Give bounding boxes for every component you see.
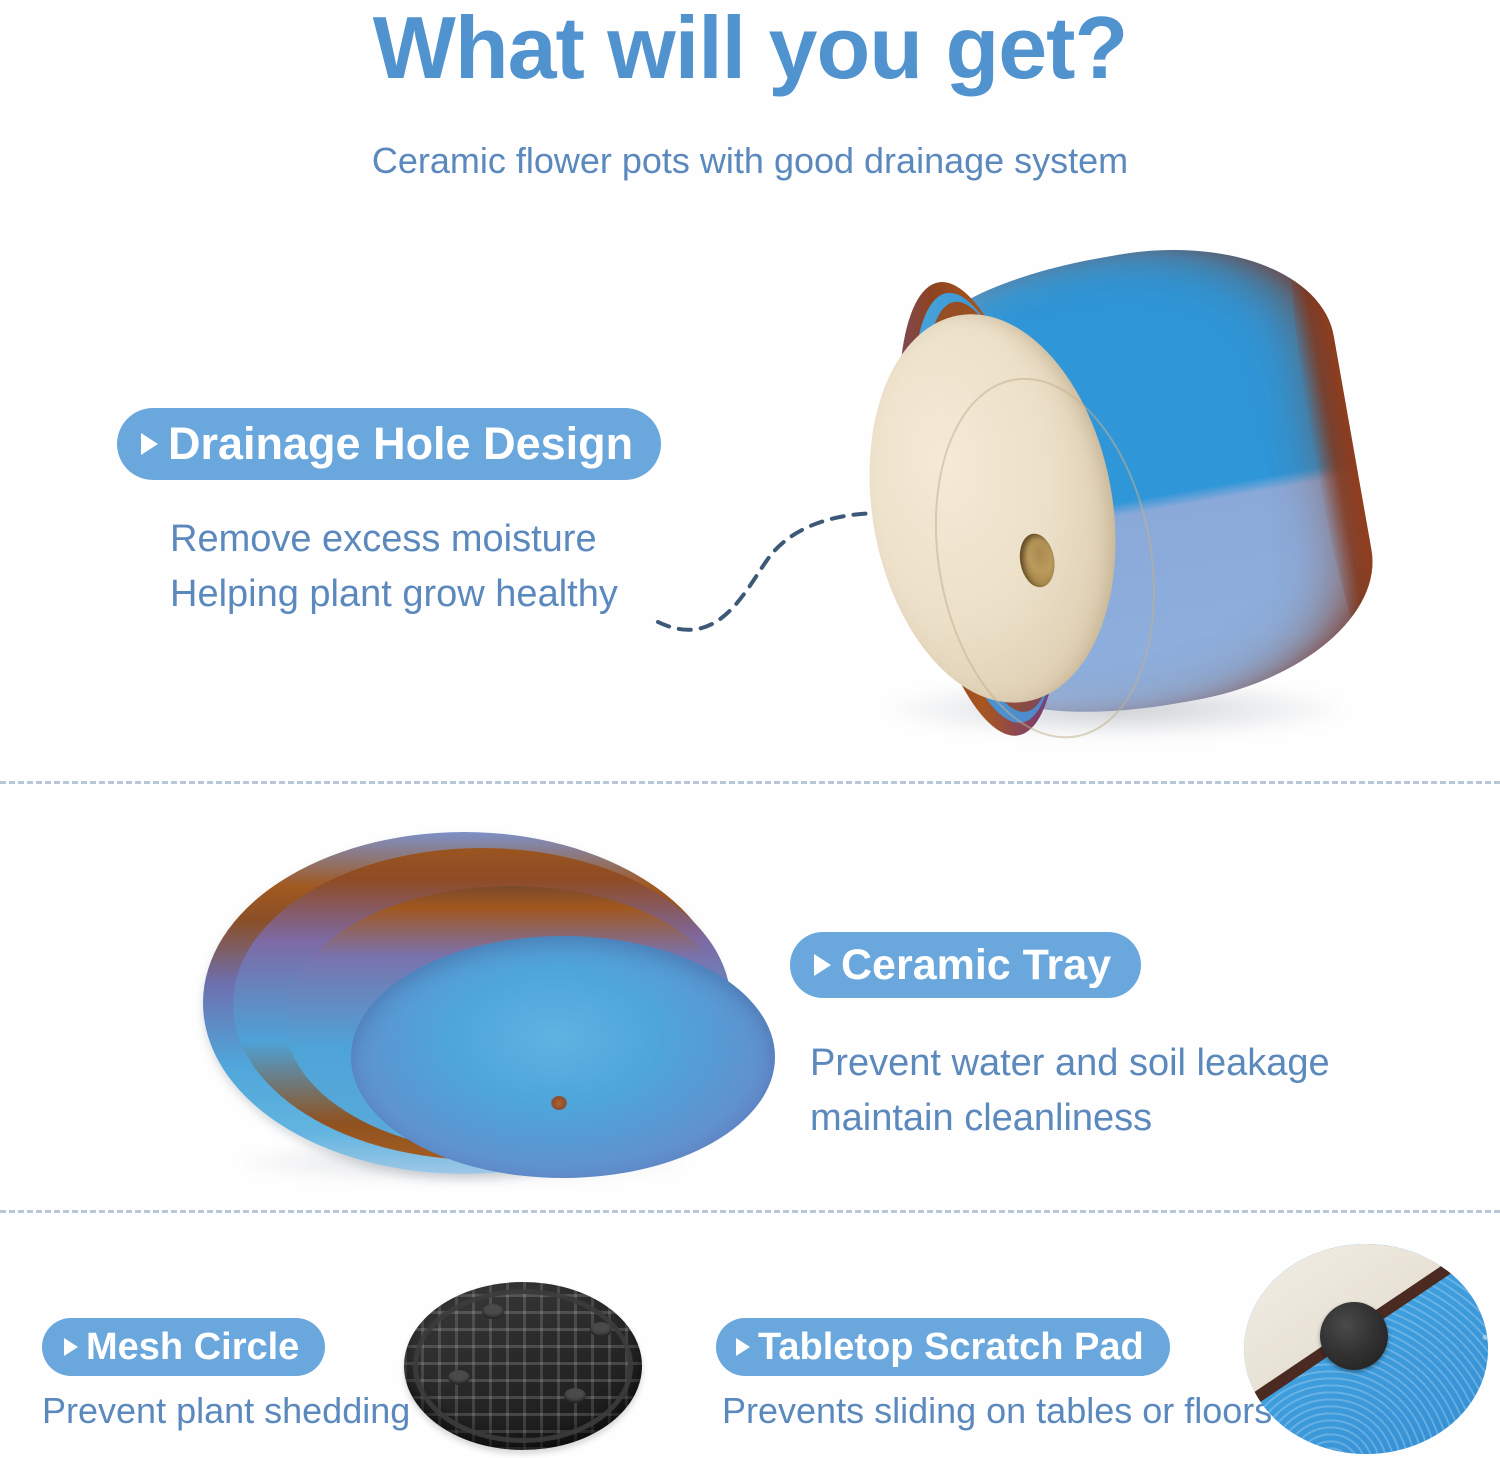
triangle-right-icon bbox=[64, 1338, 78, 1356]
tray-well bbox=[351, 936, 775, 1178]
mesh-outer-ring bbox=[413, 1289, 633, 1443]
mesh-circle-photo bbox=[404, 1282, 642, 1458]
feature-desc-mesh: Prevent plant shedding bbox=[42, 1385, 410, 1437]
feature-label-pad-text: Tabletop Scratch Pad bbox=[758, 1326, 1144, 1369]
page-subtitle: Ceramic flower pots with good drainage s… bbox=[0, 140, 1500, 182]
triangle-right-icon bbox=[736, 1338, 750, 1356]
feature-label-tray: Ceramic Tray bbox=[790, 932, 1141, 998]
feature-label-drainage-text: Drainage Hole Design bbox=[168, 418, 633, 470]
feature-label-pad: Tabletop Scratch Pad bbox=[716, 1318, 1170, 1376]
feature-desc-drainage-line-1: Remove excess moisture bbox=[170, 512, 618, 567]
feature-desc-tray-line-1: Prevent water and soil leakage bbox=[810, 1036, 1330, 1091]
tray-outer-wall bbox=[203, 832, 725, 1174]
mesh-disc bbox=[404, 1282, 642, 1450]
feature-desc-mesh-line-1: Prevent plant shedding bbox=[42, 1385, 410, 1437]
section-divider-1 bbox=[0, 781, 1500, 784]
triangle-right-icon bbox=[814, 954, 831, 976]
mesh-stud bbox=[448, 1370, 470, 1385]
feature-label-mesh: Mesh Circle bbox=[42, 1318, 325, 1376]
feature-label-mesh-text: Mesh Circle bbox=[86, 1326, 299, 1369]
feature-desc-pad-line-1: Prevents sliding on tables or floors bbox=[722, 1385, 1272, 1437]
feature-desc-tray-line-2: maintain cleanliness bbox=[810, 1091, 1330, 1146]
feature-desc-tray: Prevent water and soil leakage maintain … bbox=[810, 1036, 1330, 1146]
feature-desc-pad: Prevents sliding on tables or floors bbox=[722, 1385, 1272, 1437]
mesh-stud bbox=[590, 1322, 612, 1337]
tray-well-rim bbox=[285, 886, 737, 1154]
feature-desc-drainage: Remove excess moisture Helping plant gro… bbox=[170, 512, 618, 622]
triangle-right-icon bbox=[141, 433, 158, 455]
feature-desc-drainage-line-2: Helping plant grow healthy bbox=[170, 567, 618, 622]
tray-lip bbox=[233, 848, 731, 1160]
scratch-pad-closeup-photo bbox=[1244, 1244, 1494, 1458]
pot-graphic bbox=[789, 189, 1427, 779]
scratch-pad-zoom-bubble bbox=[1244, 1244, 1488, 1454]
feature-label-drainage: Drainage Hole Design bbox=[117, 408, 661, 480]
section-divider-2 bbox=[0, 1210, 1500, 1213]
tray-center-nub bbox=[551, 1096, 567, 1110]
page-title: What will you get? bbox=[0, 2, 1500, 94]
felt-pad bbox=[1320, 1302, 1388, 1370]
infographic-page: What will you get? Ceramic flower pots w… bbox=[0, 0, 1500, 1458]
feature-label-tray-text: Ceramic Tray bbox=[841, 941, 1111, 990]
mesh-stud bbox=[564, 1388, 586, 1403]
ceramic-pot-bottom-photo bbox=[820, 228, 1390, 758]
mesh-stud bbox=[482, 1304, 504, 1319]
ceramic-tray-photo bbox=[185, 822, 745, 1197]
